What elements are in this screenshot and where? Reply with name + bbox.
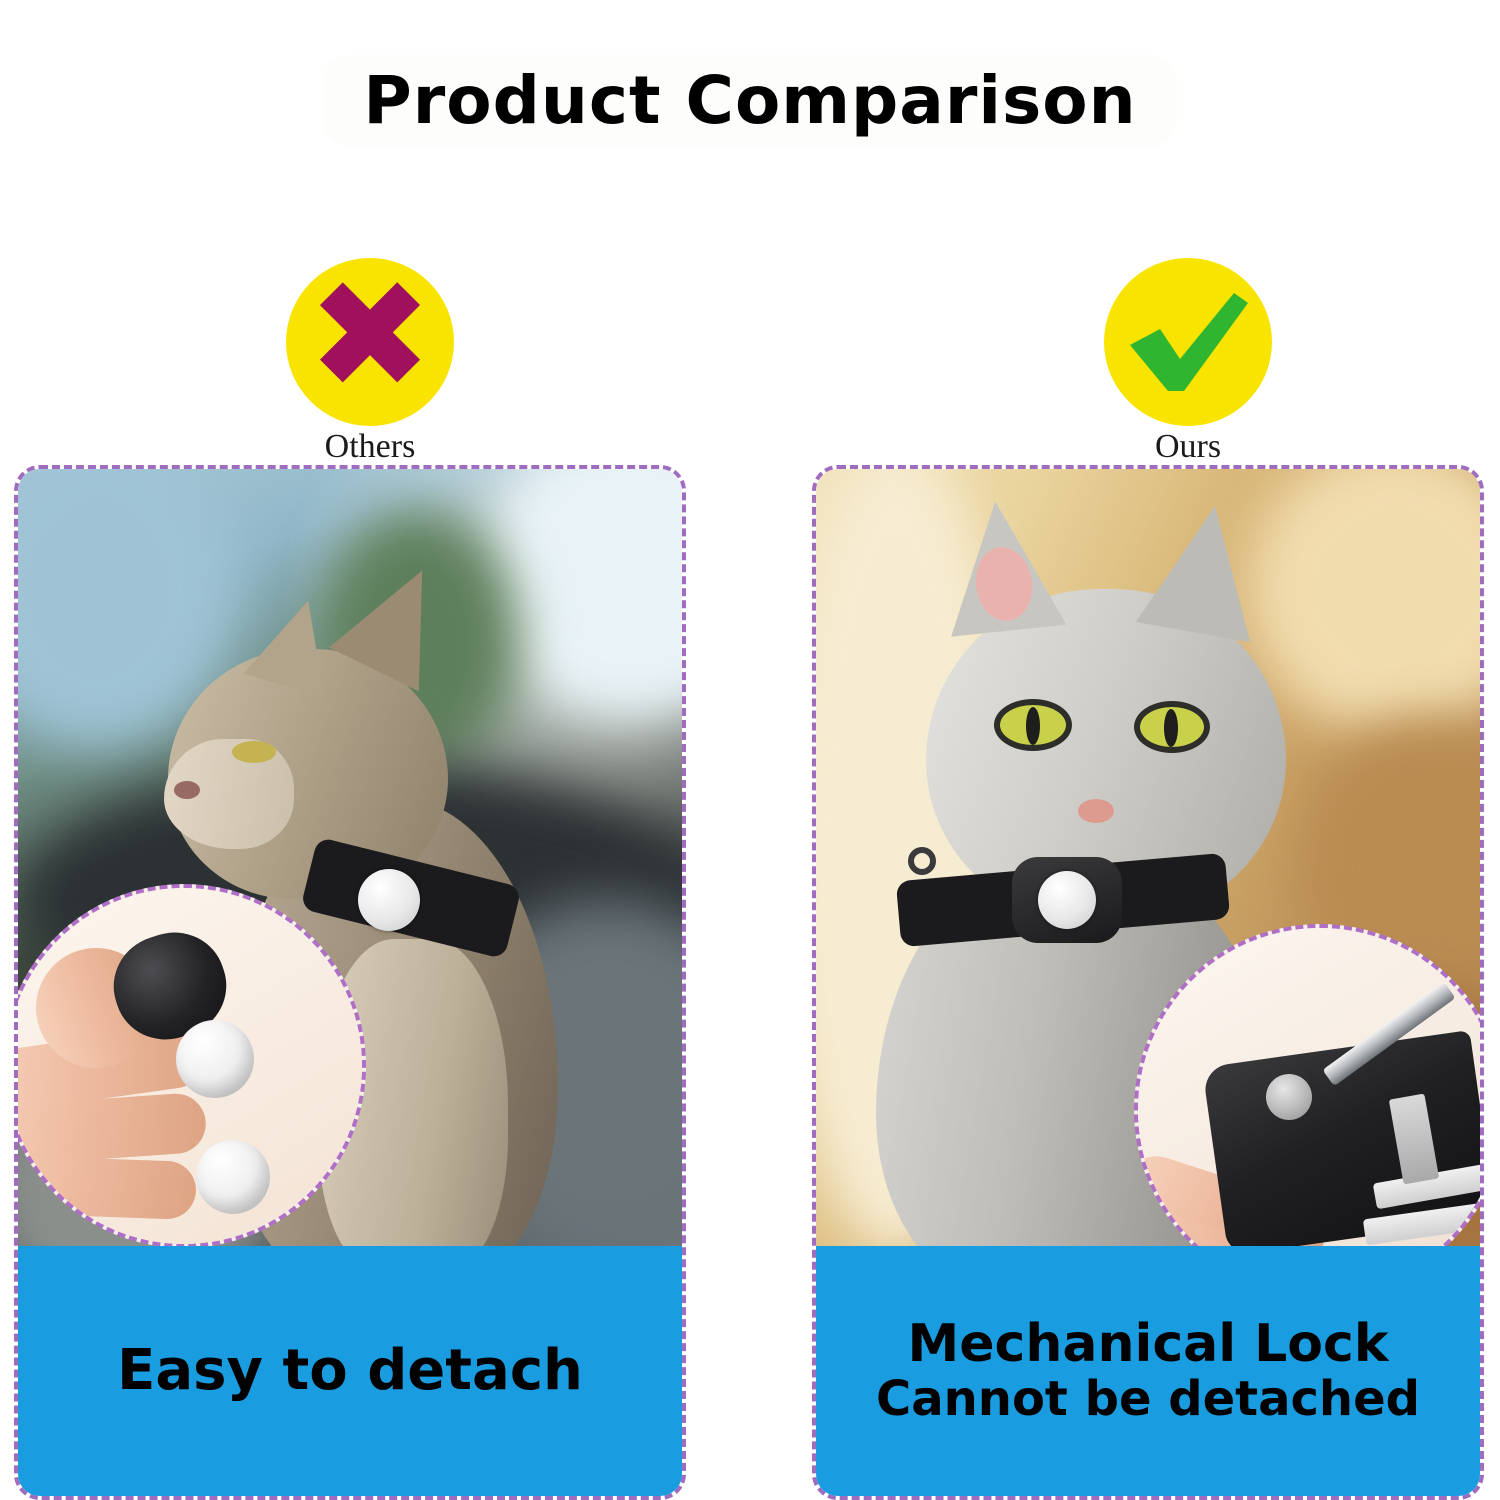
comparison-panel-others: Easy to detach (14, 465, 686, 1500)
tracker-white-1 (176, 1020, 254, 1098)
page-title: Product Comparison (323, 55, 1176, 146)
cat-nose (1078, 799, 1114, 823)
caption-bar-ours: Mechanical Lock Cannot be detached (816, 1246, 1480, 1496)
page-title-container: Product Comparison (0, 55, 1500, 146)
lock-screw (1266, 1074, 1312, 1120)
finger (14, 1154, 197, 1220)
caption-ours-line-2: Cannot be detached (866, 1373, 1430, 1427)
check-mark-icon (1122, 287, 1254, 397)
badge-others: ✖ (286, 258, 454, 426)
tracker-tag-others (358, 869, 420, 931)
cat-pupil-left (1026, 707, 1040, 745)
background-blur-blob (488, 469, 682, 719)
cat-ear-right (1136, 496, 1272, 642)
tracker-tag-ours (1038, 871, 1096, 929)
tracker-white-2 (196, 1140, 270, 1214)
comparison-panel-ours: Mechanical Lock Cannot be detached (812, 465, 1484, 1500)
cat-pupil-right (1164, 709, 1178, 747)
caption-ours-line-1: Mechanical Lock (866, 1315, 1430, 1373)
caption-bar-others: Easy to detach (18, 1246, 682, 1496)
cat-nose (174, 781, 200, 799)
badge-ours-label: Ours (1038, 428, 1338, 466)
badge-others-label: Others (220, 428, 520, 466)
collar-d-ring (908, 847, 936, 875)
caption-others-line-1: Easy to detach (107, 1340, 593, 1403)
inset-ours-lock (1134, 924, 1484, 1296)
x-mark-icon: ✖ (307, 261, 433, 411)
inset-others-detach (14, 884, 366, 1248)
background-blur-blob (1246, 469, 1480, 739)
cat-eye (232, 741, 276, 763)
badge-ours (1104, 258, 1272, 426)
